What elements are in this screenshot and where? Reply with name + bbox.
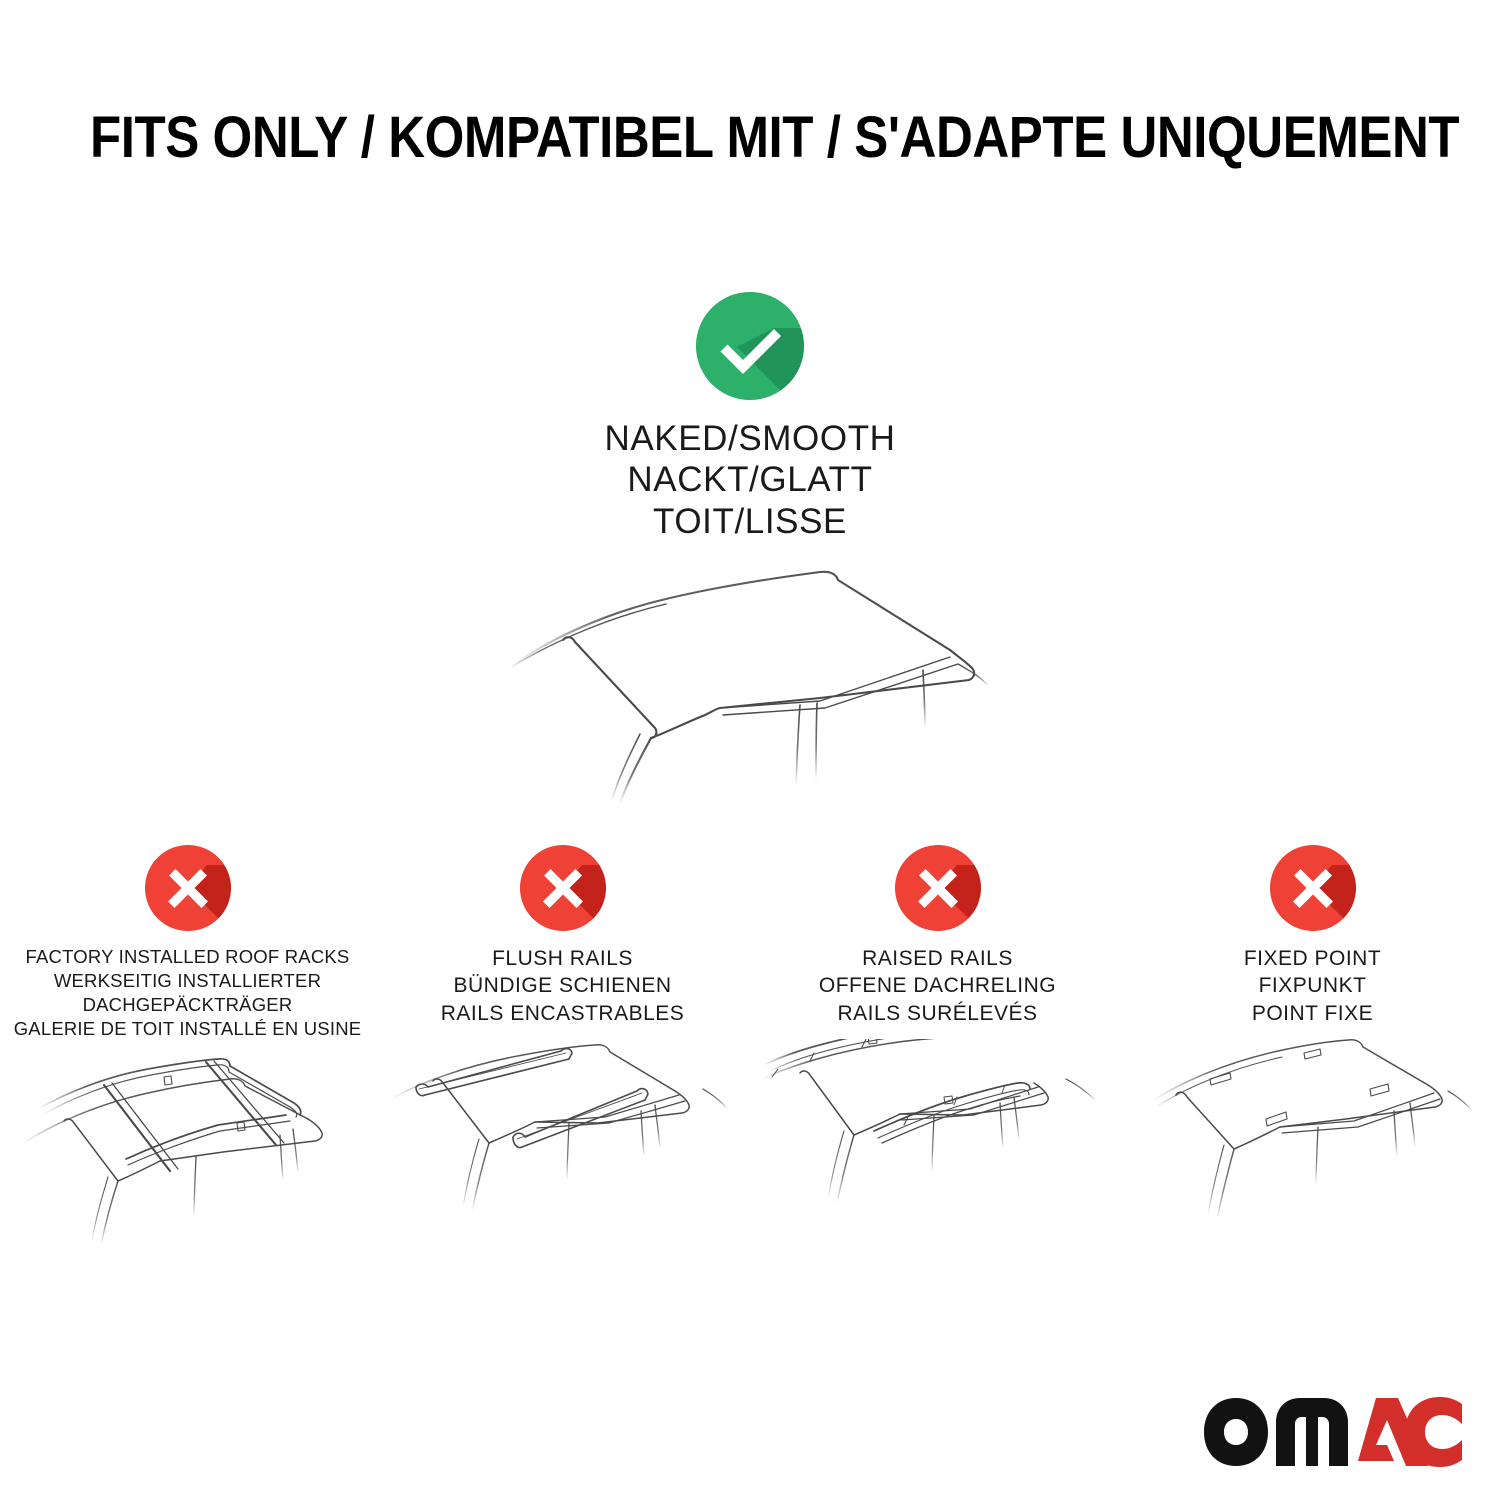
x-circle-icon	[895, 845, 981, 931]
naked-smooth-roof-illustration	[480, 558, 1020, 833]
caption-line: NACKT/GLATT	[604, 459, 895, 500]
item-caption: RAISED RAILS OFFENE DACHRELING RAILS SUR…	[819, 945, 1056, 1031]
x-circle-icon	[1270, 845, 1356, 931]
incompatible-item-raised-rails: RAISED RAILS OFFENE DACHRELING RAILS SUR…	[750, 845, 1125, 1254]
flush-rails-illustration	[383, 1039, 743, 1254]
caption-line: FACTORY INSTALLED ROOF RACKS	[14, 945, 362, 969]
caption-line: RAISED RAILS	[819, 945, 1056, 972]
item-caption: FACTORY INSTALLED ROOF RACKS WERKSEITIG …	[14, 945, 362, 1041]
incompatible-item-flush-rails: FLUSH RAILS BÜNDIGE SCHIENEN RAILS ENCAS…	[375, 845, 750, 1254]
caption-line: TOIT/LISSE	[604, 501, 895, 542]
incompatible-roof-row: FACTORY INSTALLED ROOF RACKS WERKSEITIG …	[0, 845, 1500, 1264]
caption-line: WERKSEITIG INSTALLIERTER	[14, 969, 362, 993]
raised-rails-illustration	[758, 1039, 1118, 1254]
page-title: FITS ONLY / KOMPATIBEL MIT / S'ADAPTE UN…	[90, 104, 1410, 171]
caption-line: OFFENE DACHRELING	[819, 972, 1056, 999]
caption-line: RAILS ENCASTRABLES	[441, 1000, 685, 1027]
factory-roof-rack-illustration	[8, 1049, 368, 1264]
caption-line: RAILS SURÉLEVÉS	[819, 1000, 1056, 1027]
caption-line: NAKED/SMOOTH	[604, 418, 895, 459]
fixed-point-illustration	[1148, 1039, 1478, 1254]
caption-line: GALERIE DE TOIT INSTALLÉ EN USINE	[14, 1017, 362, 1041]
item-caption: FIXED POINT FIXPUNKT POINT FIXE	[1244, 945, 1381, 1031]
omac-logo	[1198, 1392, 1468, 1472]
incompatible-item-fixed-point: FIXED POINT FIXPUNKT POINT FIXE	[1125, 845, 1500, 1254]
x-circle-icon	[145, 845, 231, 931]
check-circle-icon	[696, 292, 804, 400]
caption-line: DACHGEPÄCKTRÄGER	[14, 993, 362, 1017]
incompatible-item-factory-roof-racks: FACTORY INSTALLED ROOF RACKS WERKSEITIG …	[0, 845, 375, 1264]
caption-line: FIXED POINT	[1244, 945, 1381, 972]
caption-line: POINT FIXE	[1244, 1000, 1381, 1027]
fitment-infographic: FITS ONLY / KOMPATIBEL MIT / S'ADAPTE UN…	[0, 0, 1500, 1500]
caption-line: FIXPUNKT	[1244, 972, 1381, 999]
compatible-roof-section: NAKED/SMOOTH NACKT/GLATT TOIT/LISSE	[0, 292, 1500, 833]
item-caption: FLUSH RAILS BÜNDIGE SCHIENEN RAILS ENCAS…	[441, 945, 685, 1031]
x-circle-icon	[520, 845, 606, 931]
caption-line: BÜNDIGE SCHIENEN	[441, 972, 685, 999]
compatible-caption: NAKED/SMOOTH NACKT/GLATT TOIT/LISSE	[604, 418, 895, 542]
caption-line: FLUSH RAILS	[441, 945, 685, 972]
